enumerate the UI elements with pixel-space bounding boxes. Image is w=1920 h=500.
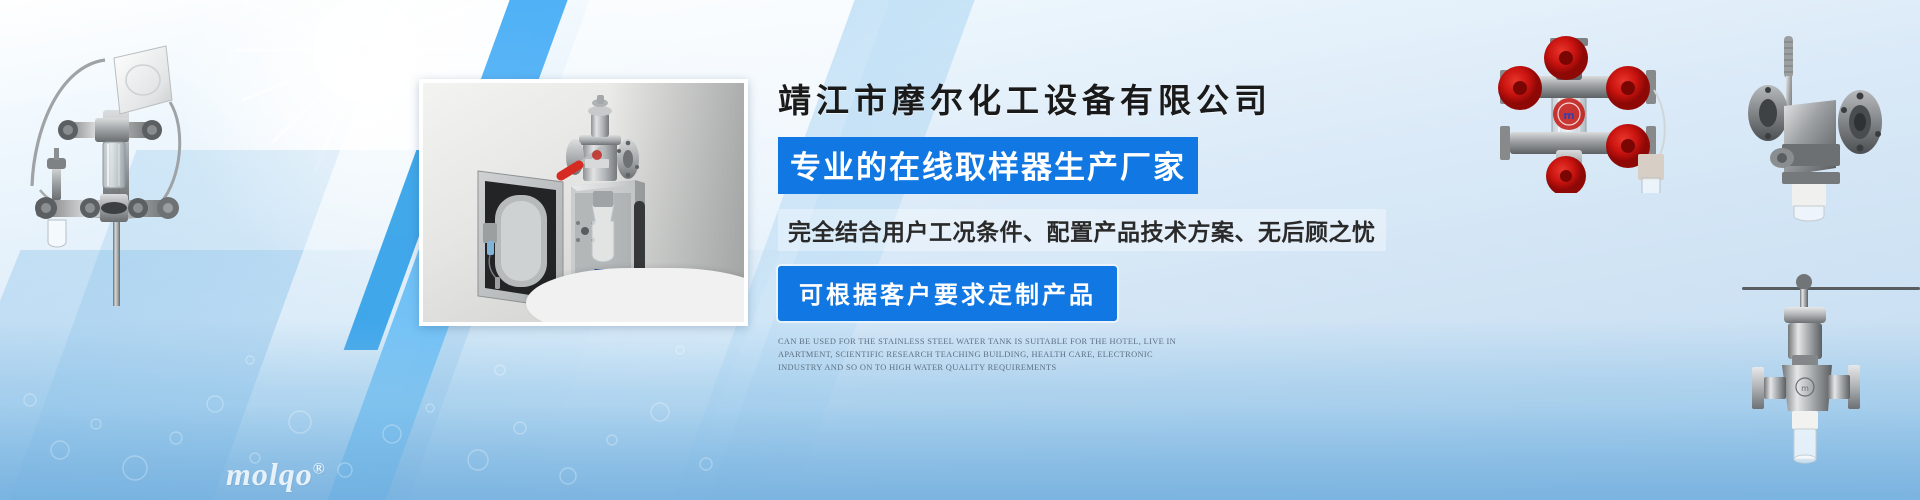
english-description: CAN BE USED FOR THE STAINLESS STEEL WATE… xyxy=(778,335,1186,374)
lever-operated-flanged-sampler-illustration xyxy=(1732,18,1920,223)
cross-valve-manifold-red-handwheels-illustration: m xyxy=(1478,28,1708,193)
company-name: 靖江市摩尔化工设备有限公司 xyxy=(778,74,1418,122)
subline-text: 完全结合用户工况条件、配置产品技术方案、无后顾之忧 xyxy=(778,209,1386,251)
custom-product-tagline: 可根据客户要求定制产品 xyxy=(778,266,1117,321)
banner-copy-block: 靖江市摩尔化工设备有限公司 专业的在线取样器生产厂家 完全结合用户工况条件、配置… xyxy=(778,74,1418,374)
pole-mounted-sampler-illustration xyxy=(0,18,210,308)
watermark-text: molqo xyxy=(226,456,313,492)
registered-mark-icon: ® xyxy=(313,460,326,477)
svg-text:m: m xyxy=(1563,109,1574,122)
headline-badge: 专业的在线取样器生产厂家 xyxy=(778,137,1198,194)
flanged-sampling-valve-illustration: m xyxy=(1742,265,1920,470)
product-photo xyxy=(419,79,748,326)
bubbles-decoration xyxy=(0,300,760,500)
brand-watermark: molqo® xyxy=(226,456,326,493)
promo-banner: m xyxy=(0,0,1920,500)
svg-text:m: m xyxy=(1801,384,1809,393)
